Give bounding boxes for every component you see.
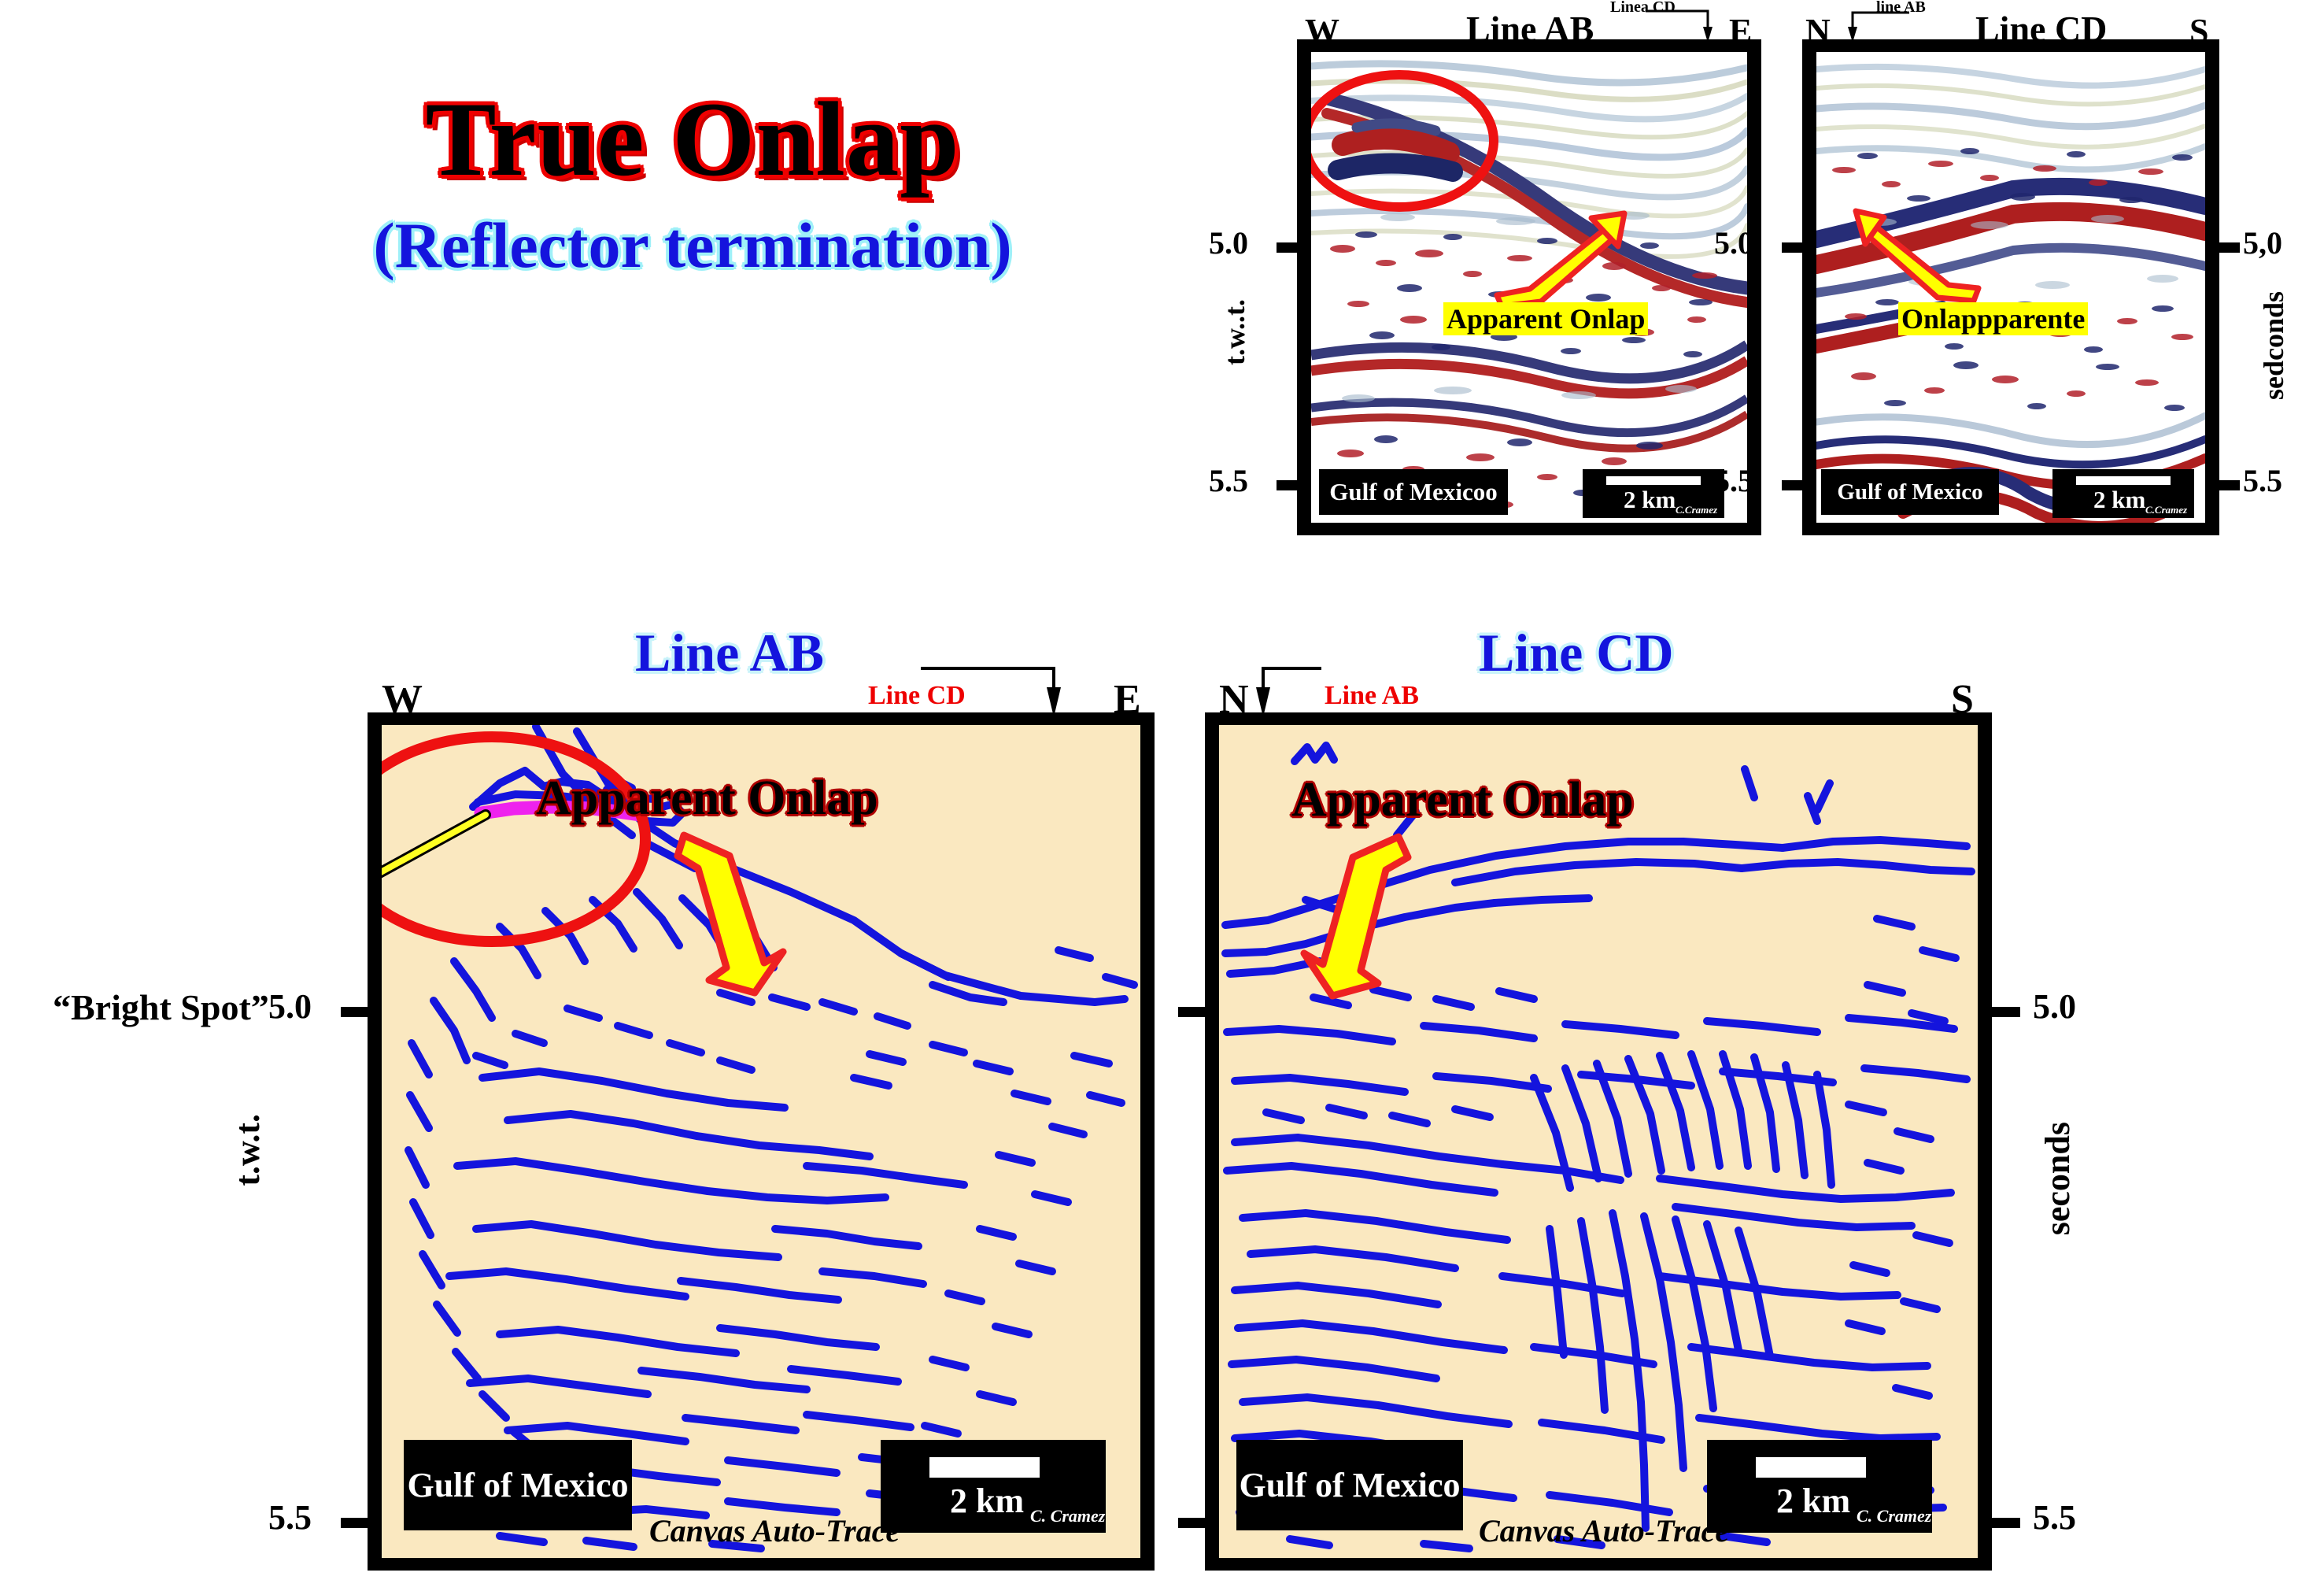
bright-spot-ellipse-seismic-ab	[1311, 68, 1503, 217]
seismic-ab-image: Apparent Onlap Gulf of Mexicoo 2 km C.Cr…	[1311, 52, 1747, 523]
location-box-seismic-ab: Gulf of Mexicoo	[1319, 469, 1508, 515]
tick-right-5-0-trace-cd	[1989, 1007, 2020, 1017]
bright-spot-label-trace-ab: “Bright Spot”	[53, 986, 269, 1028]
scale-label-seismic-cd: 2 km	[2093, 486, 2145, 514]
title-block: True Onlap (Reflector termination)	[260, 87, 1125, 278]
location-box-trace-ab: Gulf of Mexico	[404, 1440, 632, 1530]
tick-right-5-0-seismic-cd	[2216, 242, 2240, 253]
trace-panel-ab: Line AB W Line CD E	[368, 712, 1155, 1578]
tick-right-5-5-seismic-cd	[2216, 480, 2240, 490]
scale-bar-trace-cd	[1756, 1457, 1866, 1478]
seismic-panel-cd: N line AB Line CD S	[1802, 39, 2219, 575]
tick-left-5-0-trace-cd	[1178, 1007, 1210, 1017]
scale-bar-seismic-cd	[2076, 476, 2171, 485]
tick-left-5-5-seismic-cd	[1782, 480, 1805, 490]
credit-seismic-cd: C.Cramez	[2145, 504, 2187, 516]
credit-trace-ab: C. Cramez	[1030, 1506, 1105, 1526]
scale-box-seismic-ab: 2 km C.Cramez	[1583, 469, 1724, 518]
tick-left-5-0-seismic-cd	[1782, 242, 1805, 253]
location-box-trace-cd: Gulf of Mexico	[1236, 1440, 1463, 1530]
scale-box-seismic-cd: 2 km C.Cramez	[2052, 469, 2194, 518]
scale-label-seismic-ab: 2 km	[1624, 486, 1676, 514]
axis-right-label-seismic-cd-2: 5.5	[2243, 462, 2282, 499]
axis-title-seismic-ab: t.w..t.	[1218, 299, 1251, 365]
axis-tick-label-seismic-ab-1: 5.0	[1209, 224, 1248, 261]
trace-ab-image: Apparent Onlap Gulf of Mexico Canvas Aut…	[382, 725, 1140, 1558]
axis-tick-label-trace-cd-1: 5.0	[2033, 986, 2076, 1027]
scale-label-trace-cd: 2 km	[1776, 1481, 1850, 1521]
trace-cd-image: Apparent Onlap Gulf of Mexico Canvas Aut…	[1219, 725, 1978, 1558]
trace-cd-title: Line CD	[1479, 622, 1673, 684]
page-title: True Onlap	[260, 87, 1125, 193]
seismic-panel-ab: W Line AB Linea CD E	[1297, 39, 1761, 575]
axis-left-label-seismic-cd-2: 5.5	[1714, 462, 1753, 499]
axis-title-seismic-cd: sedconds	[2257, 291, 2290, 400]
location-box-seismic-cd: Gulf of Mexico	[1821, 469, 1999, 515]
onlap-aparente-label-seismic-cd: Onlappparente	[1898, 302, 2088, 335]
scale-label-trace-ab: 2 km	[950, 1481, 1024, 1521]
trace-panel-cd: Line CD N Line AB S	[1205, 712, 1992, 1578]
scale-box-trace-ab: 2 km C. Cramez	[881, 1440, 1106, 1533]
axis-tick-label-trace-ab-1: 5.0	[268, 986, 312, 1027]
onlap-arrow-trace-cd	[1284, 832, 1425, 1005]
axis-left-label-seismic-cd-1: 5.0	[1714, 224, 1753, 261]
scale-bar-trace-ab	[929, 1457, 1040, 1478]
axis-tick-label-seismic-ab-2: 5.5	[1209, 462, 1248, 499]
apparent-onlap-label-seismic-ab: Apparent Onlap	[1443, 302, 1648, 335]
tick-5-0-seismic-ab	[1277, 242, 1300, 253]
credit-trace-cd: C. Cramez	[1857, 1506, 1931, 1526]
tick-right-5-5-trace-cd	[1989, 1518, 2020, 1528]
autotrace-label-trace-cd: Canvas Auto-Trace	[1479, 1512, 1729, 1549]
page-subtitle: (Reflector termination)	[260, 213, 1125, 278]
onlap-arrow-trace-ab	[678, 829, 819, 1002]
axis-title-trace-ab: t.w.t.	[227, 1114, 268, 1186]
onlap-arrow-seismic-ab	[1491, 213, 1640, 308]
credit-seismic-ab: C.Cramez	[1676, 504, 1717, 516]
scale-box-trace-cd: 2 km C. Cramez	[1707, 1440, 1932, 1533]
tick-5-5-trace-ab	[341, 1518, 372, 1528]
apparent-onlap-label-trace-ab: Apparent Onlap	[536, 771, 878, 827]
apparent-onlap-label-trace-cd: Apparent Onlap	[1291, 772, 1634, 828]
axis-tick-label-trace-cd-2: 5.5	[2033, 1497, 2076, 1537]
autotrace-label-trace-ab: Canvas Auto-Trace	[649, 1512, 900, 1549]
bright-spot-pointer-trace-ab	[382, 804, 531, 1024]
axis-right-label-seismic-cd-1: 5,0	[2243, 224, 2282, 261]
trace-ab-title: Line AB	[635, 622, 824, 684]
axis-tick-label-trace-ab-2: 5.5	[268, 1497, 312, 1537]
scale-bar-seismic-ab	[1606, 476, 1701, 485]
tick-5-0-trace-ab	[341, 1007, 372, 1017]
onlap-arrow-seismic-cd	[1840, 209, 1990, 304]
tick-5-5-seismic-ab	[1277, 480, 1300, 490]
axis-title-trace-cd: seconds	[2038, 1122, 2078, 1235]
seismic-cd-image: Onlappparente Gulf of Mexico 2 km C.Cram…	[1816, 52, 2205, 523]
tick-left-5-5-trace-cd	[1178, 1518, 1210, 1528]
